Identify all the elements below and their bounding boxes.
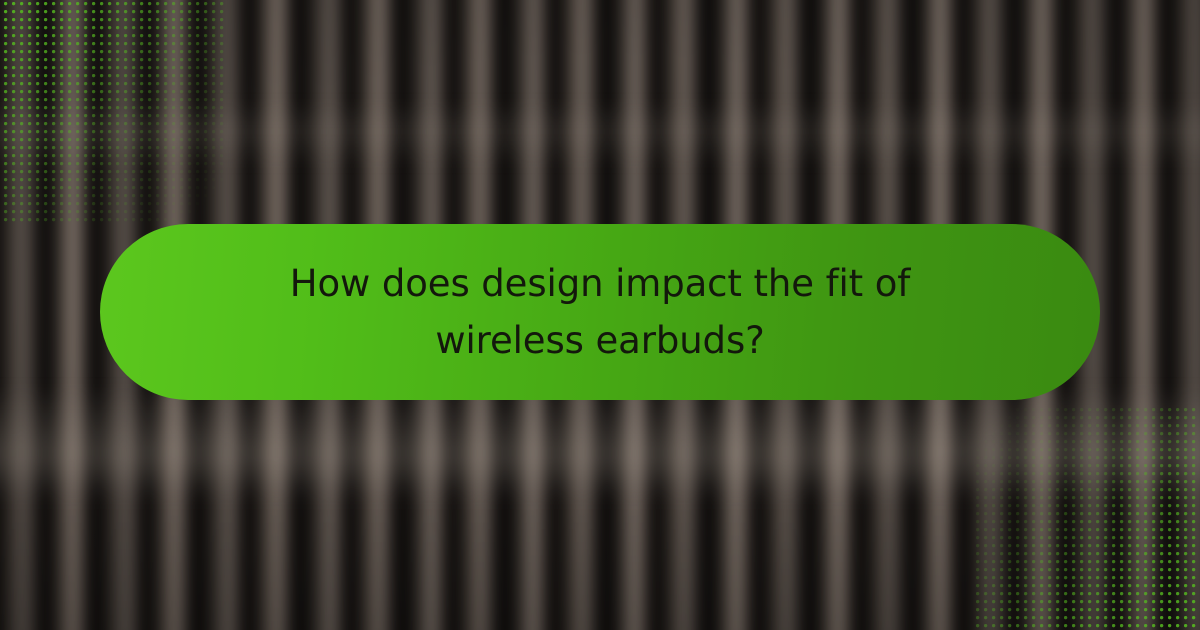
question-card: How does design impact the fit of wirele…: [0, 0, 1200, 630]
headline-pill: How does design impact the fit of wirele…: [100, 224, 1100, 400]
headline-pill-container: How does design impact the fit of wirele…: [0, 224, 1200, 400]
headline-text: How does design impact the fit of wirele…: [235, 255, 965, 369]
